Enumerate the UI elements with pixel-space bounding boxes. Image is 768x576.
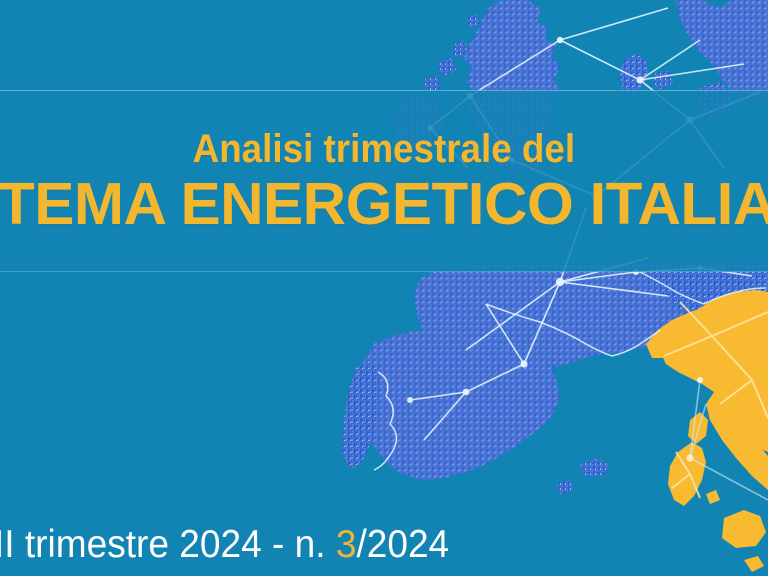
network-node — [636, 76, 643, 83]
europe-map-svg — [0, 0, 768, 576]
page-title: SISTEMA ENERGETICO ITALIANO — [0, 175, 768, 234]
issue-number: 3 — [336, 523, 357, 566]
cover-image: Analisi trimestrale del SISTEMA ENERGETI… — [0, 0, 768, 576]
network-node — [520, 360, 527, 367]
issue-prefix: II trimestre 2024 - n. — [0, 523, 336, 566]
network-node — [697, 377, 703, 383]
network-node — [407, 397, 413, 403]
network-node — [556, 278, 564, 286]
network-node — [463, 389, 470, 396]
map-background — [0, 0, 768, 576]
network-node — [557, 37, 563, 43]
issue-line: II trimestre 2024 - n. 3/2024 — [0, 525, 449, 564]
issue-suffix: /2024 — [356, 523, 449, 566]
network-node — [686, 454, 693, 461]
headline-block: Analisi trimestrale del SISTEMA ENERGETI… — [0, 90, 768, 272]
headline-subtitle: Analisi trimestrale del — [193, 129, 575, 169]
